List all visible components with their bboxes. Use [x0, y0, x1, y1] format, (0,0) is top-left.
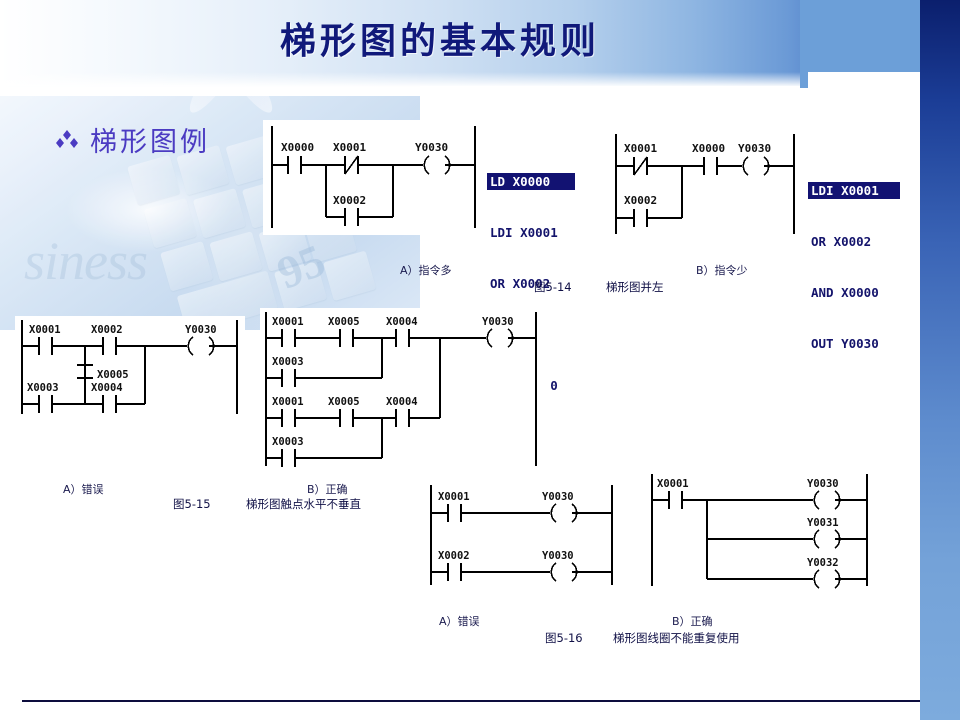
coil-label: Y0030 [807, 478, 839, 490]
fig-5-15-left-diagram: X0001 X0002 Y0030 X0005 X0003 X0004 [15, 316, 245, 418]
contact-label: X0002 [438, 550, 470, 562]
instruction-row: LD X0000 [487, 173, 575, 190]
coil-label: Y0030 [482, 316, 514, 328]
contact-label: X0001 [333, 141, 366, 154]
fig-5-15-right-diagram: X0001 X0005 X0004 Y0030 X0003 X0001 X000… [260, 308, 550, 470]
fig-5-14-right-instruction-list: LDI X0001 OR X0002 AND X0000 OUT Y0030 [808, 148, 900, 386]
fig-5-16-left-diagram: X0001 Y0030 X0002 Y0030 [424, 483, 620, 588]
coil-label: Y0030 [415, 141, 448, 154]
right-side-band [920, 0, 960, 720]
contact-label: X0001 [272, 396, 304, 408]
instruction-row: LDI X0001 [487, 224, 575, 241]
contact-label: X0002 [333, 194, 366, 207]
fig-5-16-caption-left: A）错误 [439, 613, 480, 629]
fig-5-14-caption-left: A）指令多 [400, 262, 452, 278]
fig-5-14-number: 图5-14 [534, 279, 572, 295]
coil-label: Y0030 [738, 142, 771, 155]
fig-5-14-left-diagram: X0000 X0001 X0002 Y0030 [263, 120, 488, 235]
fig-5-16-caption-right: B）正确 [672, 613, 713, 629]
banner-fade [0, 72, 920, 96]
fig-5-16-right-diagram: X0001 Y0030 Y0031 Y0032 [645, 472, 875, 590]
contact-label: X0003 [272, 356, 304, 368]
coil-label: Y0030 [542, 550, 574, 562]
contact-label: X0002 [624, 194, 657, 207]
instruction-row: OR X0002 [808, 233, 900, 250]
fig-5-16-number: 图5-16 [545, 630, 583, 646]
instruction-row: LDI X0001 [808, 182, 900, 199]
contact-label: X0004 [386, 396, 418, 408]
contact-label: X0001 [438, 491, 470, 503]
contact-label: X0001 [657, 478, 689, 490]
contact-label: X0001 [29, 324, 61, 336]
fig-5-15-number: 图5-15 [173, 496, 211, 512]
contact-label: X0003 [27, 382, 59, 394]
fig-5-15-caption-left: A）错误 [63, 481, 104, 497]
fig-5-15-caption-right: B）正确 [307, 481, 348, 497]
fig-5-14-right-diagram: X0001 X0002 X0000 Y0030 [608, 130, 808, 240]
fig-5-15-title: 梯形图触点水平不垂直 [246, 496, 361, 512]
contact-label: X0001 [624, 142, 657, 155]
business-watermark-text: siness [24, 230, 147, 292]
diamond-bullet-icon [56, 129, 78, 151]
contact-label: X0000 [692, 142, 725, 155]
contact-label: X0000 [281, 141, 314, 154]
instruction-row: OUT Y0030 [808, 335, 900, 352]
coil-label: Y0030 [542, 491, 574, 503]
contact-label: X0001 [272, 316, 304, 328]
bullet-heading-label: 梯形图例 [90, 120, 210, 159]
instruction-row: AND X0000 [808, 284, 900, 301]
contact-label: X0005 [97, 369, 129, 381]
page-title: 梯形图的基本规则 [0, 12, 880, 64]
fig-5-16-title: 梯形图线圈不能重复使用 [613, 630, 740, 646]
coil-label: Y0032 [807, 557, 839, 569]
bullet-heading: 梯形图例 [56, 120, 210, 159]
contact-label: X0005 [328, 316, 360, 328]
contact-label: X0005 [328, 396, 360, 408]
footer-divider [22, 700, 920, 702]
contact-label: X0004 [91, 382, 123, 394]
contact-label: X0003 [272, 436, 304, 448]
fig-5-14-caption-right: B）指令少 [696, 262, 748, 278]
contact-label: X0004 [386, 316, 418, 328]
contact-label: X0002 [91, 324, 123, 336]
coil-label: Y0030 [185, 324, 217, 336]
fig-5-14-title: 梯形图并左 [606, 279, 664, 295]
coil-label: Y0031 [807, 517, 839, 529]
chevron-mask [808, 72, 920, 102]
slide: siness 95 梯形图的基本规则 梯形图例 [0, 0, 960, 720]
